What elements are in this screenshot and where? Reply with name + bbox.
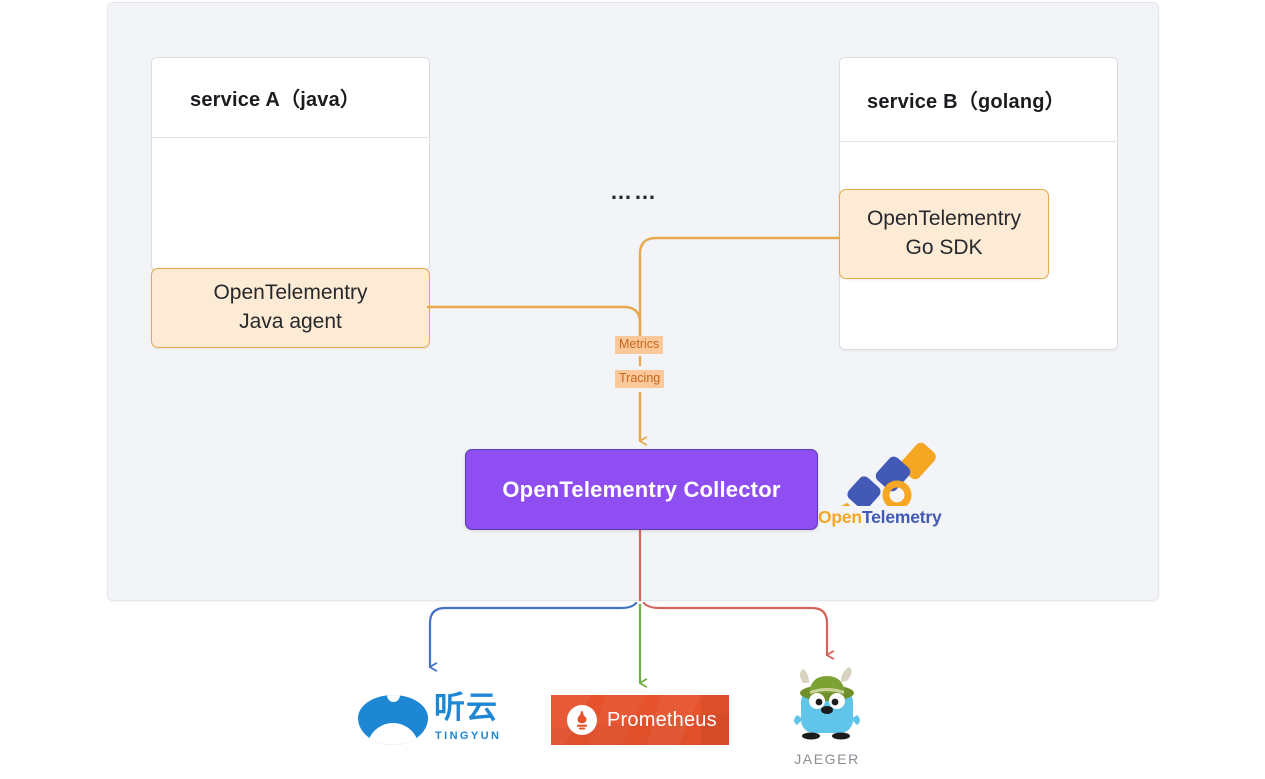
flow-label-metrics: Metrics (615, 336, 663, 354)
jaeger-logo: JAEGER (789, 663, 865, 767)
prometheus-logo: Prometheus (551, 695, 729, 745)
opentelemetry-logo: OpenTelemetry (818, 442, 970, 528)
otel-wordmark-open: Open (818, 507, 862, 527)
prometheus-label: Prometheus (607, 709, 717, 732)
flow-label-tracing: Tracing (615, 370, 664, 388)
telescope-icon (818, 442, 970, 506)
wire-collector-to-jaeger (644, 603, 827, 655)
wire-collector-to-tingyun (430, 603, 636, 667)
otel-go-sdk-line1: OpenTelementry (867, 205, 1021, 234)
jaeger-label: JAEGER (789, 751, 865, 767)
prometheus-torch-icon (567, 705, 597, 735)
otel-java-agent-box: OpenTelementry Java agent (151, 268, 430, 348)
diagram-canvas: service A（java） service B（golang） OpenTe… (0, 0, 1265, 779)
tingyun-mark-icon (358, 695, 428, 745)
ellipsis-dots: …… (610, 181, 658, 203)
otel-wordmark-telemetry: Telemetry (862, 507, 942, 527)
tingyun-cn-label: 听云 (434, 693, 498, 724)
opentelemetry-wordmark: OpenTelemetry (818, 507, 942, 528)
service-a-box: service A（java） (151, 57, 430, 271)
tingyun-en-label: TINGYUN (435, 731, 501, 742)
otel-java-agent-line2: Java agent (239, 308, 342, 337)
otel-collector-label: OpenTelementry Collector (502, 477, 780, 503)
jaeger-gopher-icon (789, 663, 865, 751)
otel-collector-box: OpenTelementry Collector (465, 449, 818, 530)
otel-go-sdk-box: OpenTelementry Go SDK (839, 189, 1049, 279)
service-a-title: service A（java） (152, 58, 429, 138)
service-b-title: service B（golang） (840, 58, 1117, 142)
otel-go-sdk-line2: Go SDK (905, 234, 982, 263)
otel-java-agent-line1: OpenTelementry (213, 279, 367, 308)
tingyun-logo: 听云 TINGYUN (358, 693, 504, 749)
